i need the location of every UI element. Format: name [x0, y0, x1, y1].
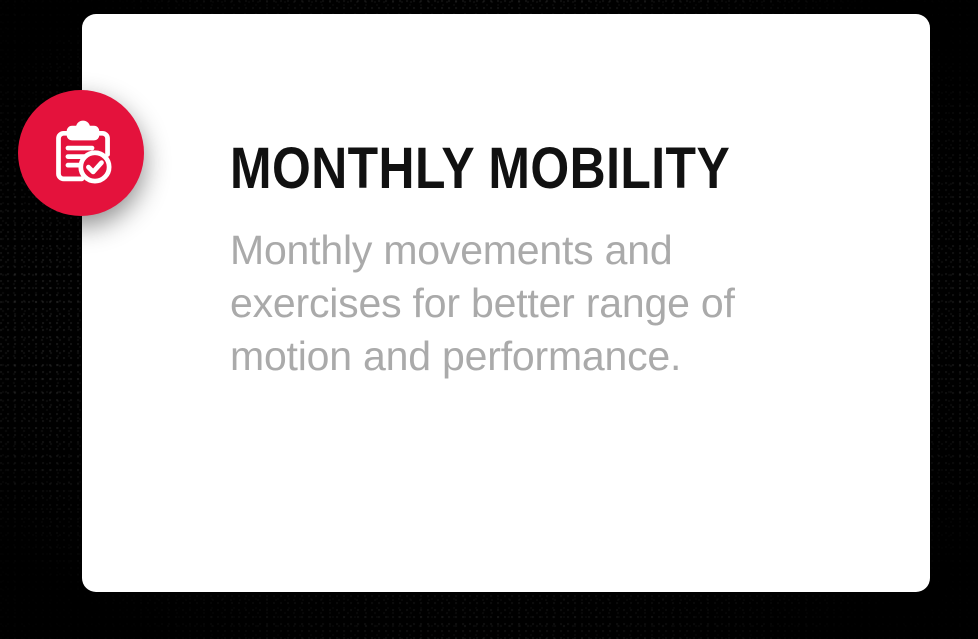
- feature-card-stage: MONTHLY MOBILITY Monthly movements and e…: [0, 0, 978, 639]
- feature-card-content: MONTHLY MOBILITY Monthly movements and e…: [230, 140, 870, 383]
- page-title: MONTHLY MOBILITY: [230, 140, 780, 198]
- feature-card-description: Monthly movements and exercises for bett…: [230, 198, 750, 383]
- clipboard-check-icon: [45, 117, 117, 189]
- feature-card[interactable]: MONTHLY MOBILITY Monthly movements and e…: [82, 14, 930, 592]
- clipboard-check-icon-badge: [18, 90, 144, 216]
